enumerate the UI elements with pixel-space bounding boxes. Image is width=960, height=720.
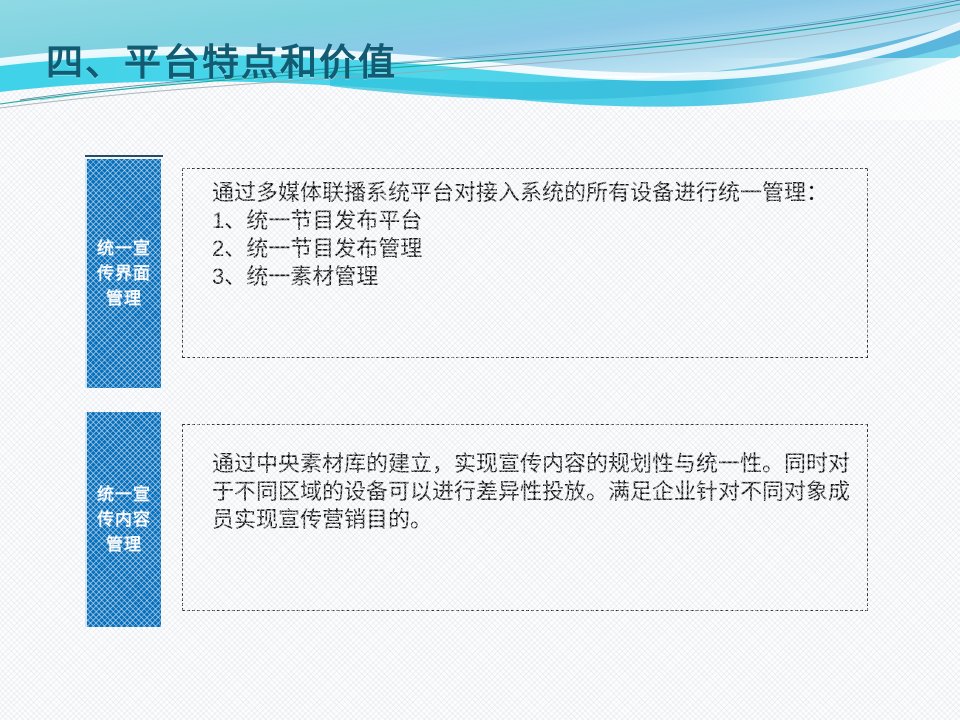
section-1-body-text: 通过多媒体联播系统平台对接入系统的所有设备进行统一管理： 1、统一节目发布平台 … bbox=[212, 179, 852, 291]
section-1-label-text: 统一宣传界面管理 bbox=[95, 236, 153, 311]
page-title: 四、平台特点和价值 bbox=[46, 32, 397, 86]
slide-canvas: 四、平台特点和价值 统一宣传界面管理 通过多媒体联播系统平台对接入系统的所有设备… bbox=[0, 0, 960, 720]
section-2-label-box: 统一宣传内容管理 bbox=[85, 412, 161, 627]
section-1-top-rule bbox=[85, 155, 163, 157]
section-2-label-text: 统一宣传内容管理 bbox=[95, 482, 153, 557]
section-1-label-box: 统一宣传界面管理 bbox=[85, 159, 161, 388]
section-2-body-text: 通过中央素材库的建立，实现宣传内容的规划性与统一性。同时对于不同区域的设备可以进… bbox=[212, 450, 852, 534]
